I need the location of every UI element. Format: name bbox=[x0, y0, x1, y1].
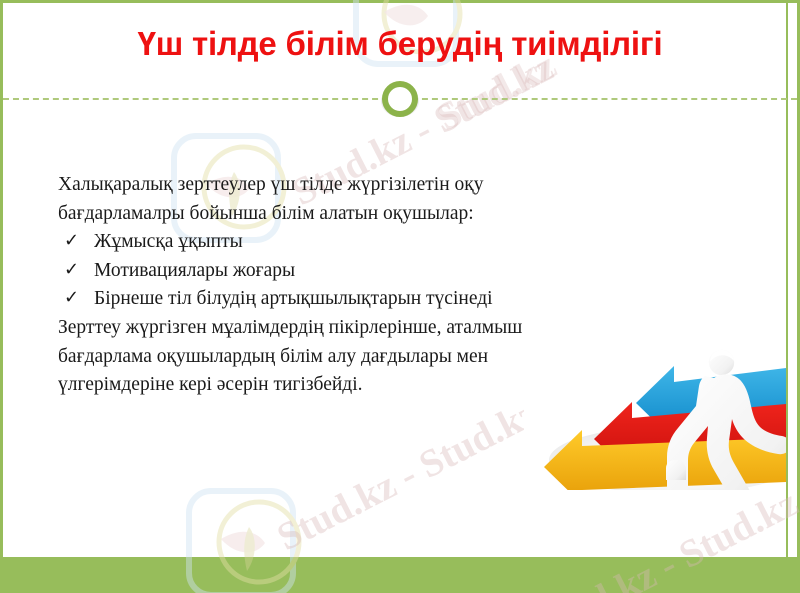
frame-border-left bbox=[0, 0, 3, 593]
watermark-text: Stud.kz - Stud.kz bbox=[270, 390, 545, 560]
ring-ornament-icon bbox=[382, 81, 418, 117]
bullet-list: ✓ Жұмысқа ұқыпты ✓ Мотивациялары жоғары … bbox=[58, 228, 538, 314]
frame-border-right-inner bbox=[786, 0, 788, 557]
list-item-label: Жұмысқа ұқыпты bbox=[94, 231, 243, 252]
arrows-illustration bbox=[524, 340, 786, 490]
footer-band bbox=[0, 557, 800, 593]
check-icon: ✓ bbox=[64, 256, 79, 285]
slide-title: Үш тілде білім берудің тиімділігі bbox=[0, 24, 800, 64]
list-item-label: Бірнеше тіл білудің артықшылықтарын түсі… bbox=[94, 288, 493, 309]
check-icon: ✓ bbox=[64, 284, 79, 313]
intro-paragraph: Халықаралық зерттеулер үш тілде жүргізіл… bbox=[58, 171, 538, 228]
list-item-label: Мотивациялары жоғары bbox=[94, 260, 295, 281]
slide-canvas: Stud.kz Stud.kz - Stud.kz Stud.kz - Stud… bbox=[0, 0, 800, 593]
check-icon: ✓ bbox=[64, 227, 79, 256]
list-item: ✓ Жұмысқа ұқыпты bbox=[58, 228, 538, 257]
list-item: ✓ Мотивациялары жоғары bbox=[58, 257, 538, 286]
closing-paragraph: Зерттеу жүргізген мұалімдердің пікірлері… bbox=[58, 314, 538, 400]
slide-body: Халықаралық зерттеулер үш тілде жүргізіл… bbox=[58, 171, 538, 400]
frame-border-top bbox=[0, 0, 800, 3]
list-item: ✓ Бірнеше тіл білудің артықшылықтарын тү… bbox=[58, 285, 538, 314]
